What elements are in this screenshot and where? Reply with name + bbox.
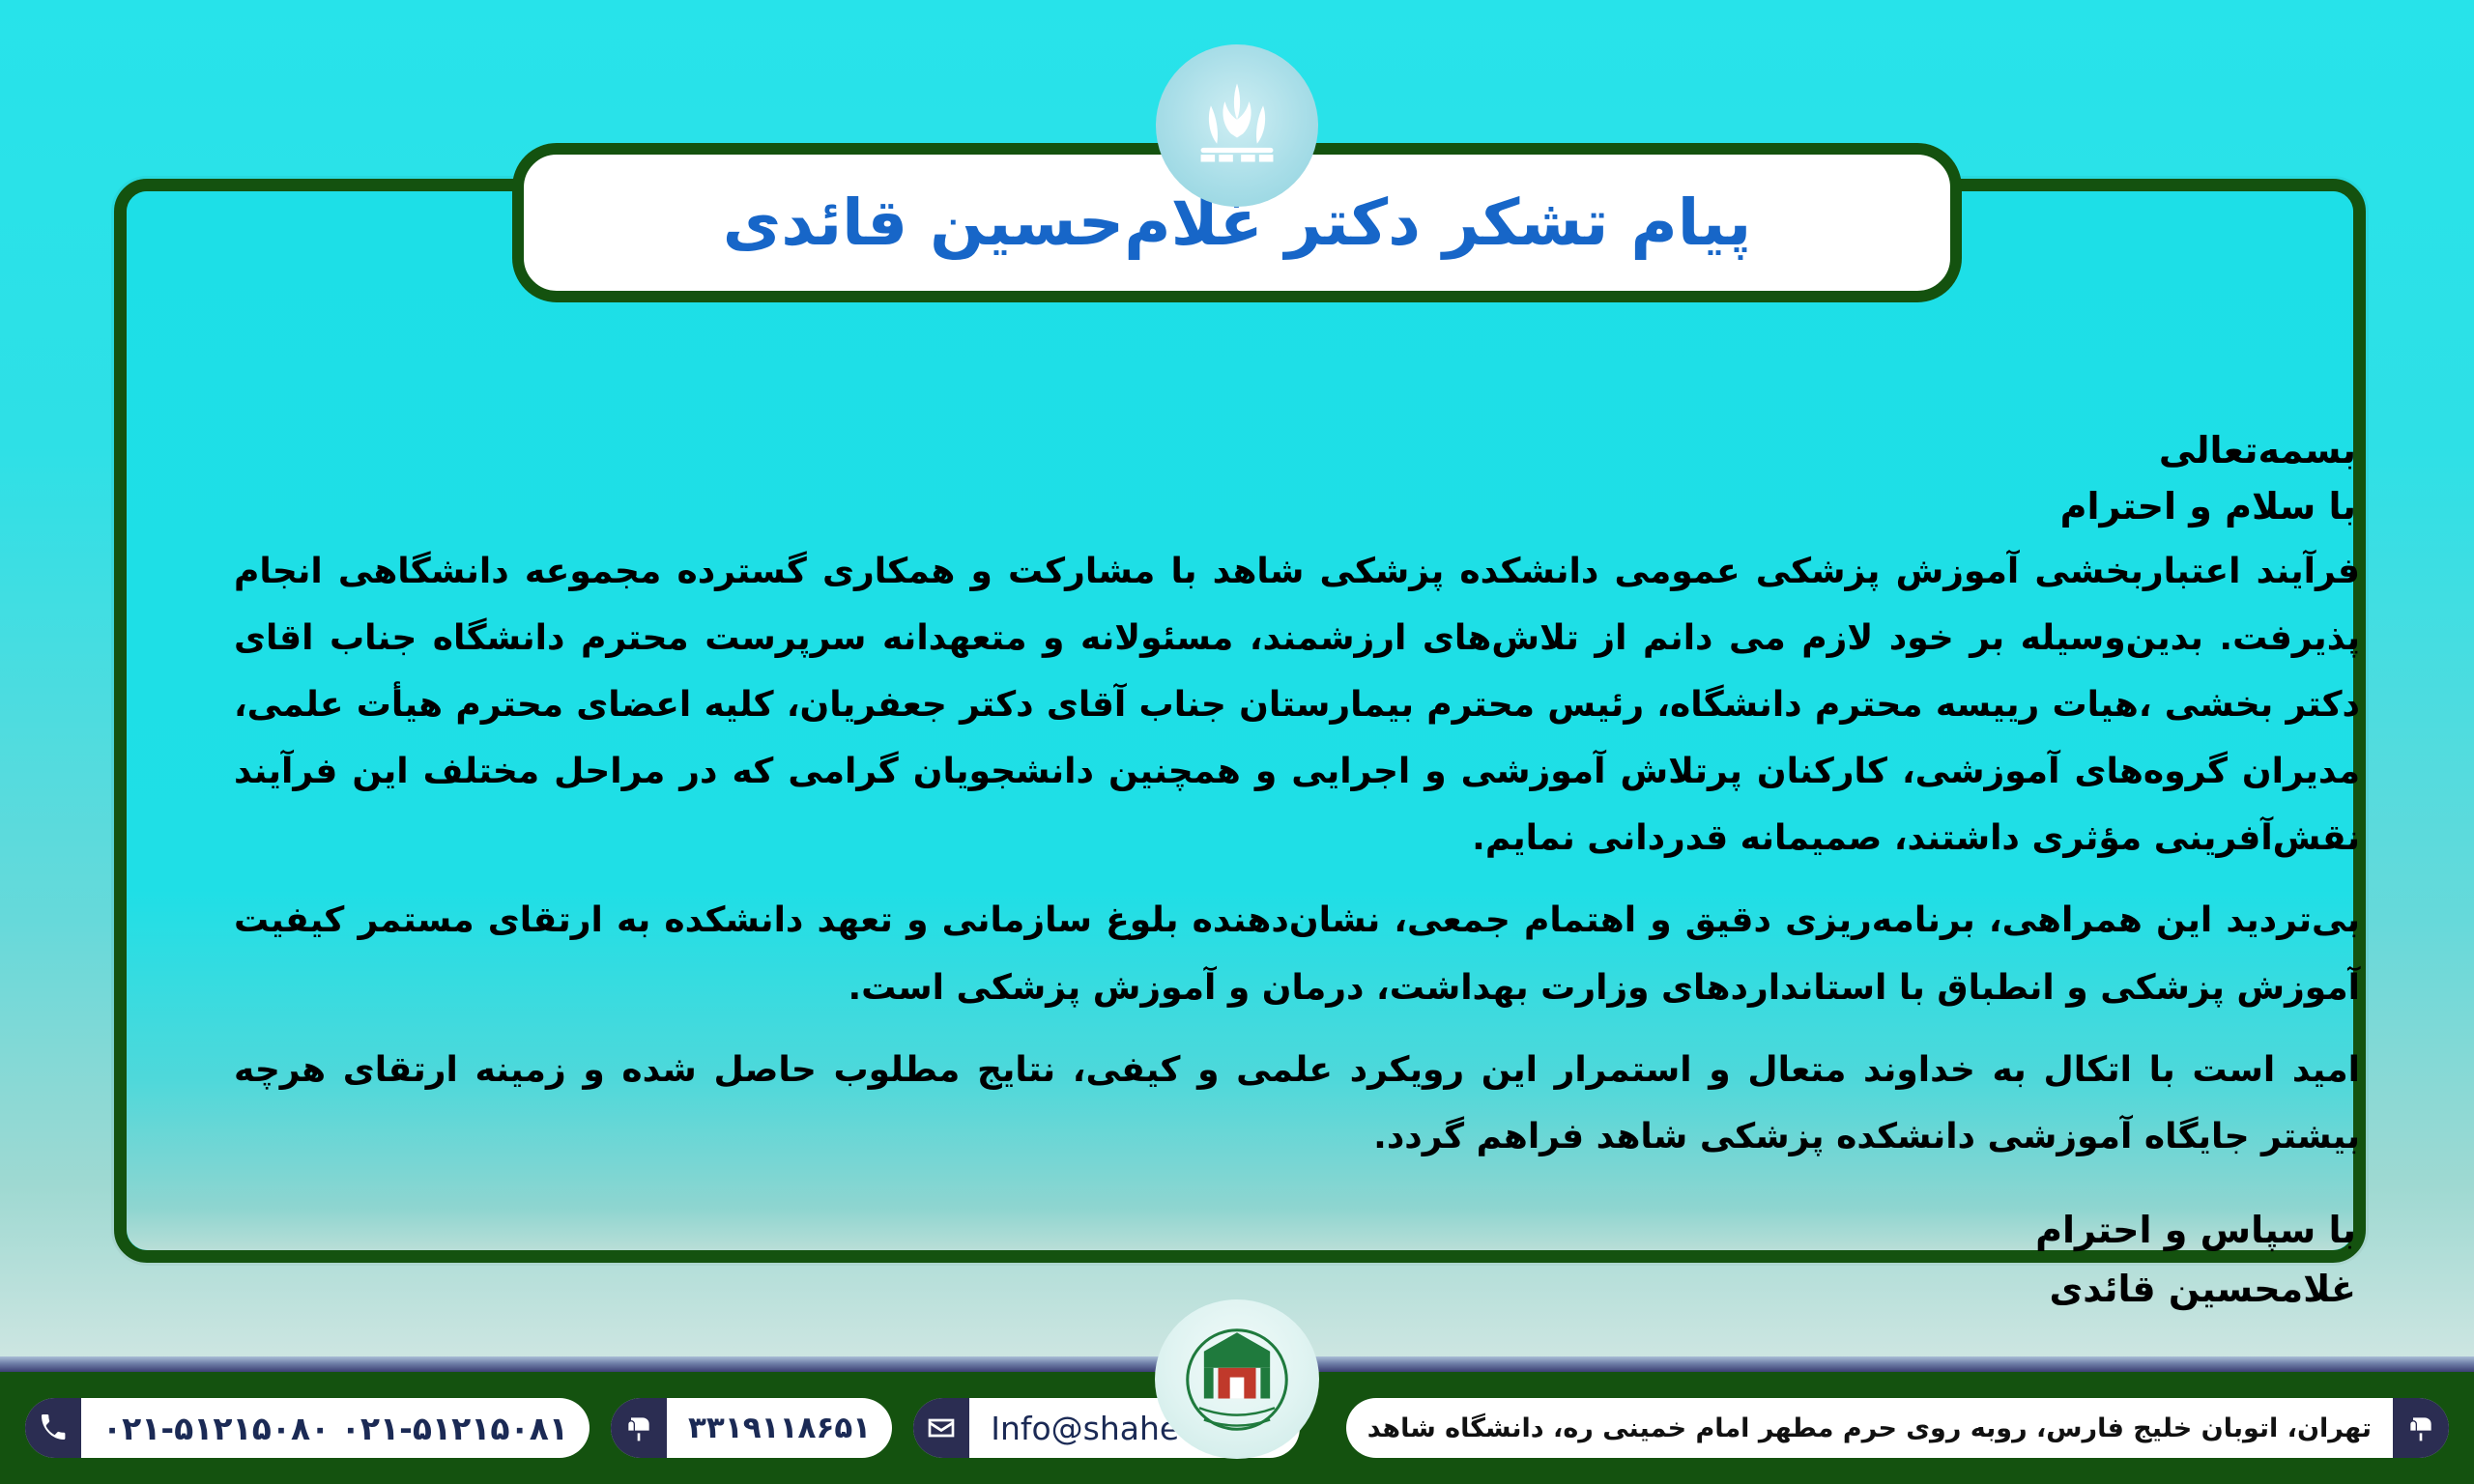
closing-line: با سپاس و احترام <box>234 1203 2360 1258</box>
invocation: بسمه‌تعالی <box>234 425 2360 475</box>
national-emblem <box>1156 44 1318 207</box>
iran-emblem-icon <box>1187 75 1287 176</box>
phone-numbers: ۰۲۱-۵۱۲۱۵۰۸۰ ۰۲۱-۵۱۲۱۵۰۸۱ <box>81 1413 590 1444</box>
contact-postal-code[interactable]: ۳۳۱۹۱۱۸۶۵۱ <box>611 1398 892 1458</box>
letter-body: بسمه‌تعالی با سلام و احترام فرآیند اعتبا… <box>234 425 2360 1317</box>
paragraph-3: امید است با اتکال به خداوند متعال و استم… <box>234 1037 2360 1170</box>
paragraph-1: فرآیند اعتباربخشی آموزش پزشکی عمومی دانش… <box>234 538 2360 872</box>
signature-name: غلامحسین قائدی <box>234 1262 2360 1317</box>
paragraph-2: بی‌تردید این همراهی، برنامه‌ریزی دقیق و … <box>234 887 2360 1020</box>
contact-phone[interactable]: ۰۲۱-۵۱۲۱۵۰۸۰ ۰۲۱-۵۱۲۱۵۰۸۱ <box>25 1398 590 1458</box>
envelope-icon <box>913 1398 969 1458</box>
address-text: تهران، اتوبان خلیج فارس، روبه روی حرم مط… <box>1346 1415 2393 1441</box>
mailbox-icon <box>611 1398 667 1458</box>
mailbox-icon <box>2393 1398 2449 1458</box>
contact-address[interactable]: تهران، اتوبان خلیج فارس، روبه روی حرم مط… <box>1346 1398 2449 1458</box>
greeting: با سلام و احترام <box>234 481 2360 531</box>
phone-icon <box>25 1398 81 1458</box>
shahed-university-logo-icon <box>1178 1321 1296 1439</box>
university-logo <box>1155 1299 1319 1459</box>
postal-code: ۳۳۱۹۱۱۸۶۵۱ <box>667 1413 892 1443</box>
